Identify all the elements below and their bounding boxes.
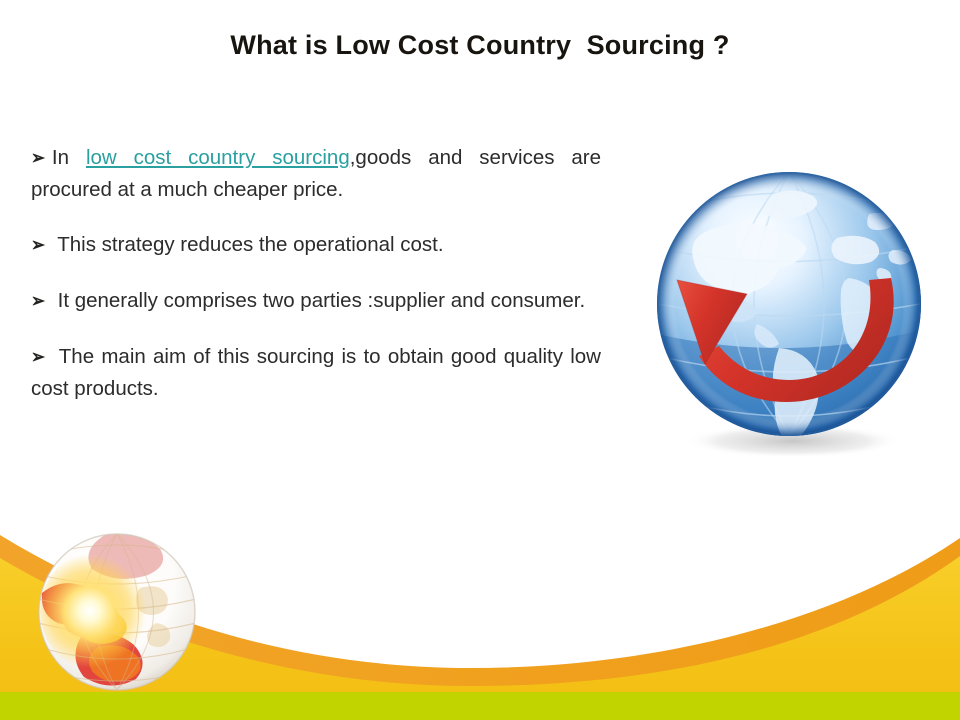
bullet-arrow-icon: ➢ [31, 342, 45, 373]
bullet-text-segment: In [52, 146, 86, 169]
bullet-text: ➢In low cost country sourcing,goods and … [31, 142, 601, 205]
bullet-operational-cost: ➢ This strategy reduces the operational … [31, 229, 601, 261]
bullet-arrow-icon: ➢ [31, 143, 45, 174]
blue-globe-image [653, 158, 925, 458]
bullet-main-aim: ➢ The main aim of this sourcing is to ob… [31, 341, 601, 404]
bullet-text-segment: It generally comprises two parties :supp… [52, 289, 585, 312]
bullet-text-segment: The main aim of this sourcing is to obta… [31, 345, 601, 400]
bullet-text-segment: This strategy reduces the operational co… [52, 233, 444, 256]
bullet-arrow-icon: ➢ [31, 286, 45, 317]
page-title: What is Low Cost Country Sourcing ? [0, 30, 960, 61]
slide-canvas: What is Low Cost Country Sourcing ? ➢In … [0, 0, 960, 720]
bullet-two-parties: ➢ It generally comprises two parties :su… [31, 285, 601, 317]
orange-grid-globe-image [36, 531, 198, 693]
bullet-text: ➢ It generally comprises two parties :su… [31, 285, 601, 317]
bullet-list: ➢In low cost country sourcing,goods and … [31, 142, 601, 428]
bullet-definition: ➢In low cost country sourcing,goods and … [31, 142, 601, 205]
bullet-text: ➢ The main aim of this sourcing is to ob… [31, 341, 601, 404]
bullet-text: ➢ This strategy reduces the operational … [31, 229, 601, 261]
bullet-arrow-icon: ➢ [31, 230, 45, 261]
low-cost-country-sourcing-link[interactable]: low cost country sourcing [86, 146, 350, 169]
